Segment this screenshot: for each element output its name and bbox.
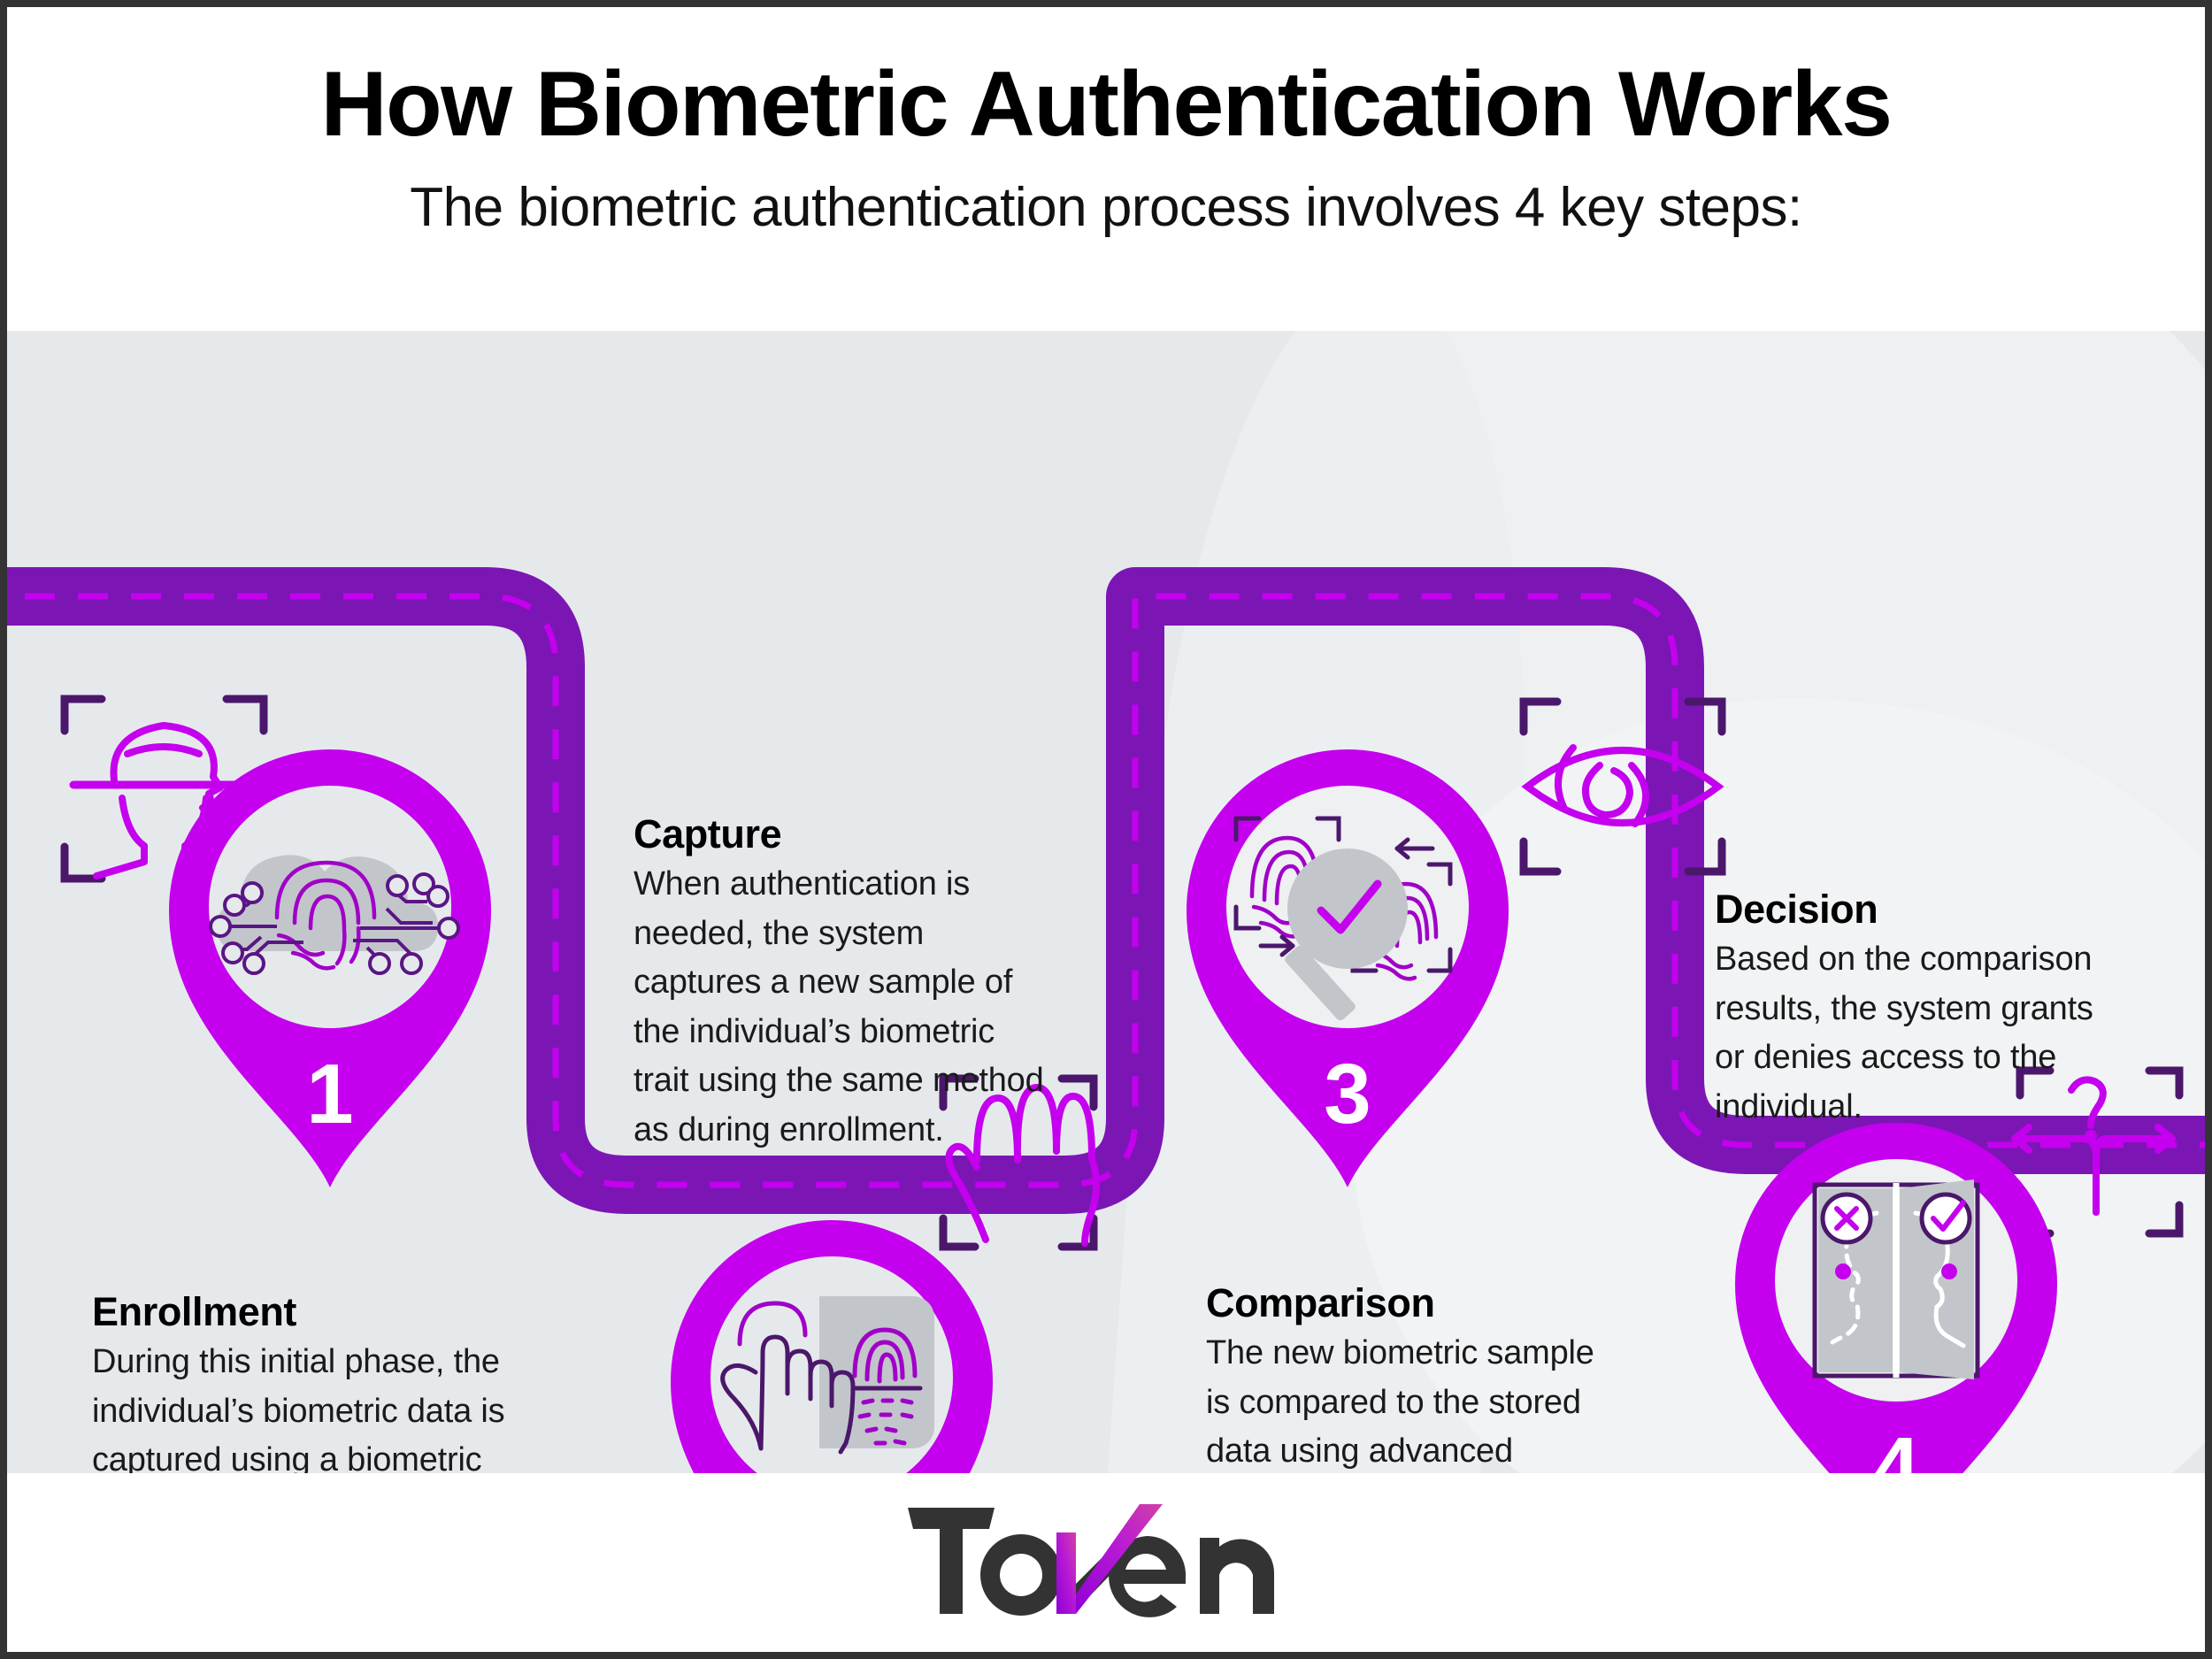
page-subtitle: The biometric authentication process inv… — [410, 180, 1801, 235]
step-pin-2[interactable]: 2 — [664, 1211, 1000, 1473]
infographic-page: How Biometric Authentication Works The b… — [0, 0, 2212, 1659]
step-text-comparison: Comparison The new biometric sample is c… — [1206, 1282, 1622, 1473]
two-doors-grant-deny-icon — [1815, 1179, 1978, 1379]
step-heading: Enrollment — [92, 1291, 552, 1333]
diagram-canvas: 1 — [7, 331, 2205, 1473]
token-logo: Token — [902, 1502, 1310, 1624]
step-body: The new biometric sample is compared to … — [1206, 1329, 1622, 1473]
step-heading: Capture — [634, 813, 1049, 855]
iris-scan-eye-icon — [1511, 689, 1734, 888]
step-pin-1[interactable]: 1 — [162, 741, 498, 1192]
step-heading: Comparison — [1206, 1282, 1622, 1324]
step-pin-4[interactable]: 4 — [1728, 1114, 2064, 1473]
step-body: Based on the comparison results, the sys… — [1715, 935, 2104, 1132]
pin-number: 4 — [1872, 1420, 1919, 1473]
step-heading: Decision — [1715, 888, 2104, 930]
footer: Token — [7, 1473, 2205, 1652]
step-text-enrollment: Enrollment During this initial phase, th… — [92, 1291, 552, 1473]
step-body: During this initial phase, the individua… — [92, 1338, 552, 1473]
step-text-capture: Capture When authentication is needed, t… — [634, 813, 1049, 1155]
step-text-decision: Decision Based on the comparison results… — [1715, 888, 2104, 1132]
step-body: When authentication is needed, the syste… — [634, 860, 1049, 1155]
pin-number: 3 — [1324, 1047, 1371, 1141]
pin-number: 1 — [306, 1047, 353, 1141]
page-title: How Biometric Authentication Works — [321, 58, 1892, 150]
step-pin-3[interactable]: 3 — [1179, 741, 1516, 1192]
header: How Biometric Authentication Works The b… — [7, 7, 2205, 331]
